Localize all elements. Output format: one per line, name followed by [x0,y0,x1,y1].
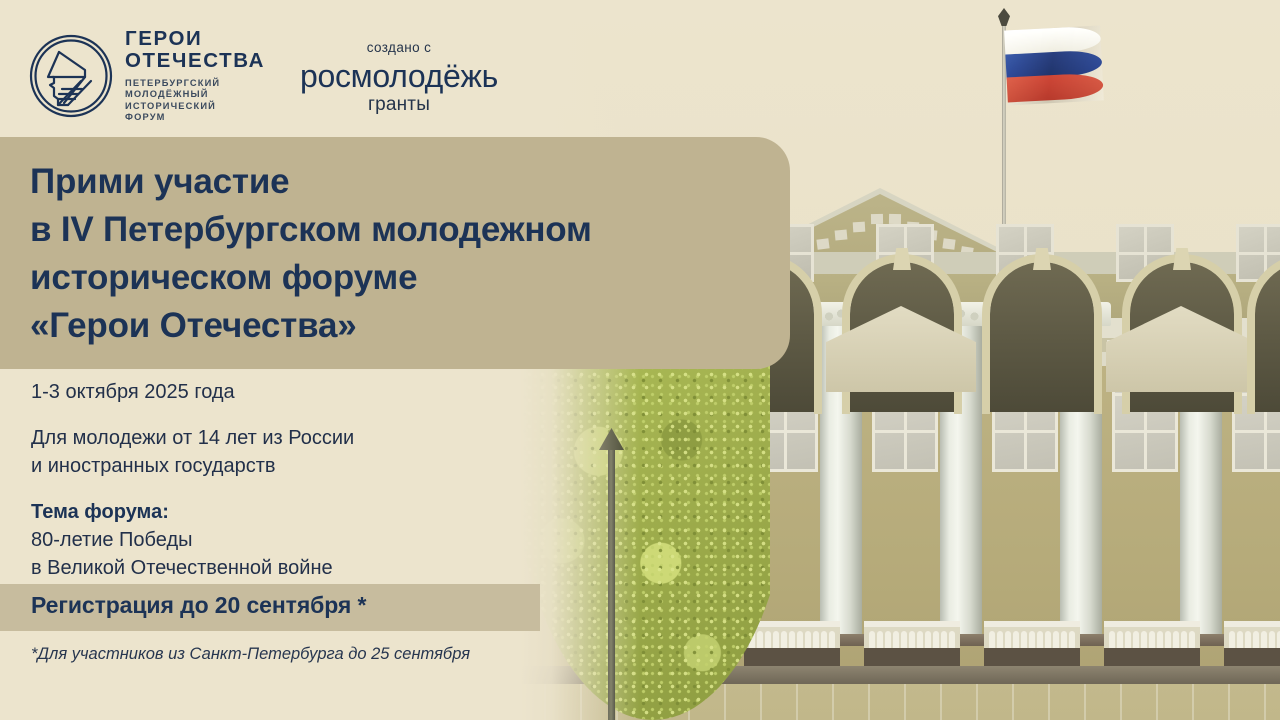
page-title: Прими участие в IV Петербургском молодеж… [30,158,790,350]
balustrade-rail [1104,621,1200,627]
balustrade-rail [1224,621,1280,627]
window-mullion [1115,430,1175,433]
balustrade-rail [984,621,1080,627]
partner-eyebrow: создано с [288,40,510,55]
soldier-profile-emblem-icon [28,33,114,119]
topic-value: 80-летие Победы в Великой Отечественной … [31,526,511,582]
balustrade-plinth [984,648,1080,666]
partner-program: гранты [288,94,510,116]
arch-archivolt [982,254,1102,414]
russian-tricolour-flag [1004,26,1104,106]
balustrade-plinth [864,648,960,666]
balustrade-plinth [1104,648,1200,666]
topic-label: Тема форума: [31,498,511,526]
window-mullion [1235,430,1280,433]
registration-deadline: Регистрация до 20 сентября * [31,592,366,619]
forum-logo-text: ГЕРОИ ОТЕЧЕСТВА ПЕТЕРБУРГСКИЙ МОЛОДЁЖНЫЙ… [125,28,265,124]
flag-white-stripe [1004,26,1101,56]
balustrade-plinth [1224,648,1280,666]
event-details: 1-3 октября 2025 года Для молодежи от 14… [31,378,511,582]
flag-blue-stripe [1005,50,1102,80]
window-mullion [875,430,935,433]
window-mullion [995,430,1055,433]
balustrade-plinth [744,648,840,666]
balustrade-rail [864,621,960,627]
forum-logo-lockup: ГЕРОИ ОТЕЧЕСТВА ПЕТЕРБУРГСКИЙ МОЛОДЁЖНЫЙ… [28,28,265,124]
forum-logo-subtitle: ПЕТЕРБУРГСКИЙ МОЛОДЁЖНЫЙ ИСТОРИЧЕСКИЙ ФО… [125,78,265,124]
event-dates: 1-3 октября 2025 года [31,378,511,406]
flag-red-stripe [1007,73,1104,103]
partner-logo-lockup: создано с росмолодёжь гранты [288,40,510,116]
poster-canvas: Прими участие в IV Петербургском молодеж… [0,0,1280,720]
forum-logo-title: ГЕРОИ ОТЕЧЕСТВА [125,28,265,72]
partner-name: росмолодёжь [288,57,510,95]
event-audience: Для молодежи от 14 лет из России и иност… [31,424,511,480]
registration-footnote: *Для участников из Санкт-Петербурга до 2… [31,645,470,664]
